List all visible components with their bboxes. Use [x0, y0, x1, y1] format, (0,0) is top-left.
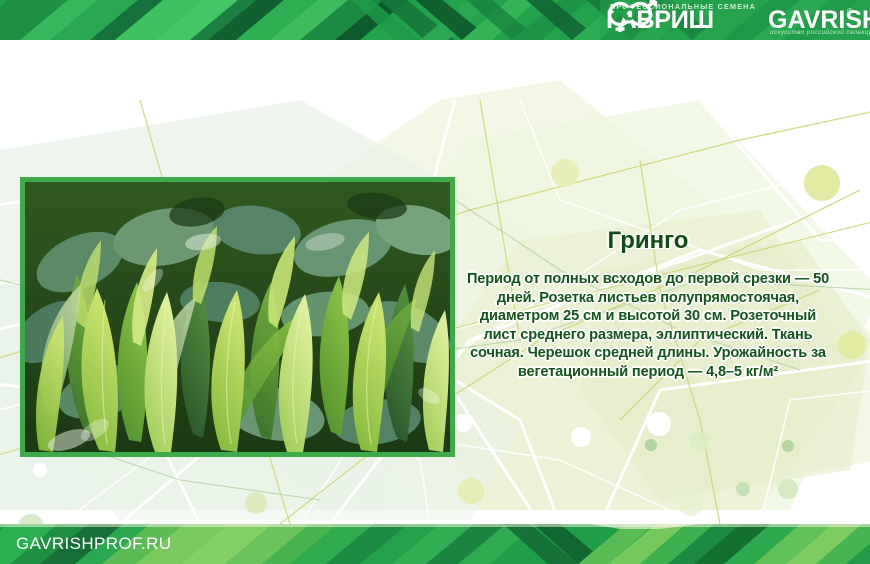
crop-description: Период от полных всходов до первой срезк… [462, 270, 834, 382]
crop-info-panel: Гринго Период от полных всходов до перво… [462, 226, 834, 382]
logo-sub-tagline: искусство российской селекции [770, 29, 870, 36]
footer-band: GAVRISHPROF.RU [0, 524, 870, 564]
gavrish-logo[interactable]: ПРОФЕССИОНАЛЬНЫЕ СЕМЕНА ГАВРИШ [602, 0, 864, 40]
footer-site-url[interactable]: GAVRISHPROF.RU [16, 535, 171, 553]
registered-trademark-icon: ® [847, 7, 853, 16]
sorrel-leaves-illustration [25, 182, 450, 452]
slide-root: ПРОФЕССИОНАЛЬНЫЕ СЕМЕНА ГАВРИШ [0, 0, 870, 564]
crop-photo [25, 182, 450, 452]
gavrish-male-female-symbol-icon [602, 0, 658, 33]
slide-body: Гринго Период от полных всходов до перво… [0, 40, 870, 524]
header-band: ПРОФЕССИОНАЛЬНЫЕ СЕМЕНА ГАВРИШ [0, 0, 870, 40]
crop-photo-frame [20, 177, 455, 457]
crop-title: Гринго [462, 226, 834, 256]
